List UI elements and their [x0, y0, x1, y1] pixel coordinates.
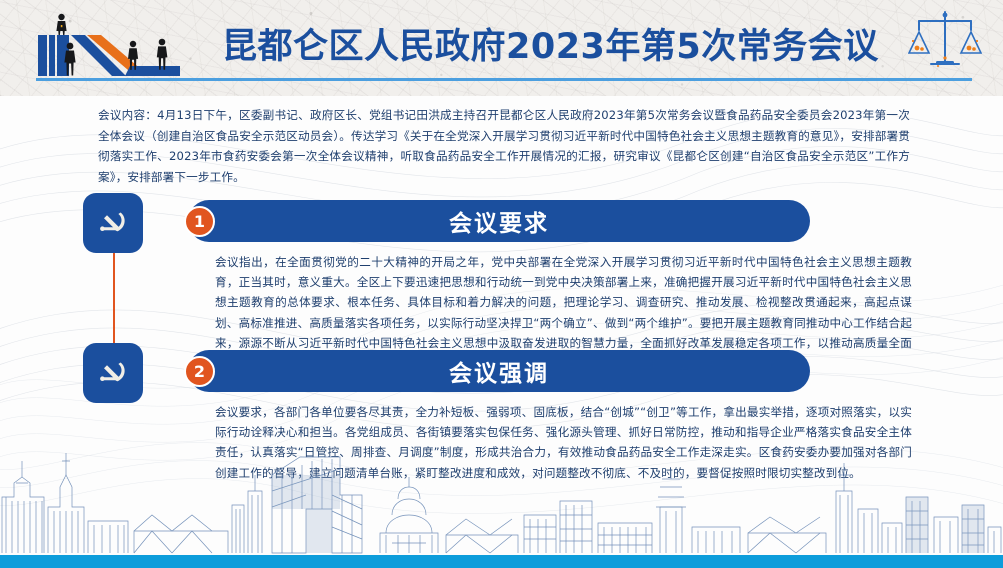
cpc-hammer-sickle-emblem: [95, 355, 131, 391]
city-skyline-lineart: [0, 435, 1003, 555]
cpc-emblem-1: [83, 193, 143, 253]
section-badge-2: 2: [184, 356, 215, 387]
infographic-page: 昆都仑区人民政府2023年第5次常务会议: [0, 0, 1003, 568]
page-title: 昆都仑区人民政府2023年第5次常务会议: [222, 18, 879, 69]
timeline-connector: [113, 253, 115, 343]
government-chart-people-logo: [30, 8, 220, 78]
section-title-1: 会议要求: [449, 204, 549, 238]
cpc-hammer-sickle-emblem: [95, 205, 131, 241]
page-header: 昆都仑区人民政府2023年第5次常务会议: [0, 0, 1003, 96]
section-title-2: 会议强调: [449, 354, 549, 388]
bottom-color-bar: [0, 555, 1003, 568]
section-banner-1: 会议要求: [188, 200, 810, 242]
intro-paragraph: 会议内容：4月13日下午，区委副书记、政府区长、党组书记田洪成主持召开昆都仑区人…: [98, 105, 910, 187]
header-divider: [36, 78, 972, 81]
section-badge-1: 1: [184, 206, 215, 237]
cpc-emblem-2: [83, 343, 143, 403]
section-banner-2: 会议强调: [188, 350, 810, 392]
balance-scales-icon: [908, 8, 982, 74]
